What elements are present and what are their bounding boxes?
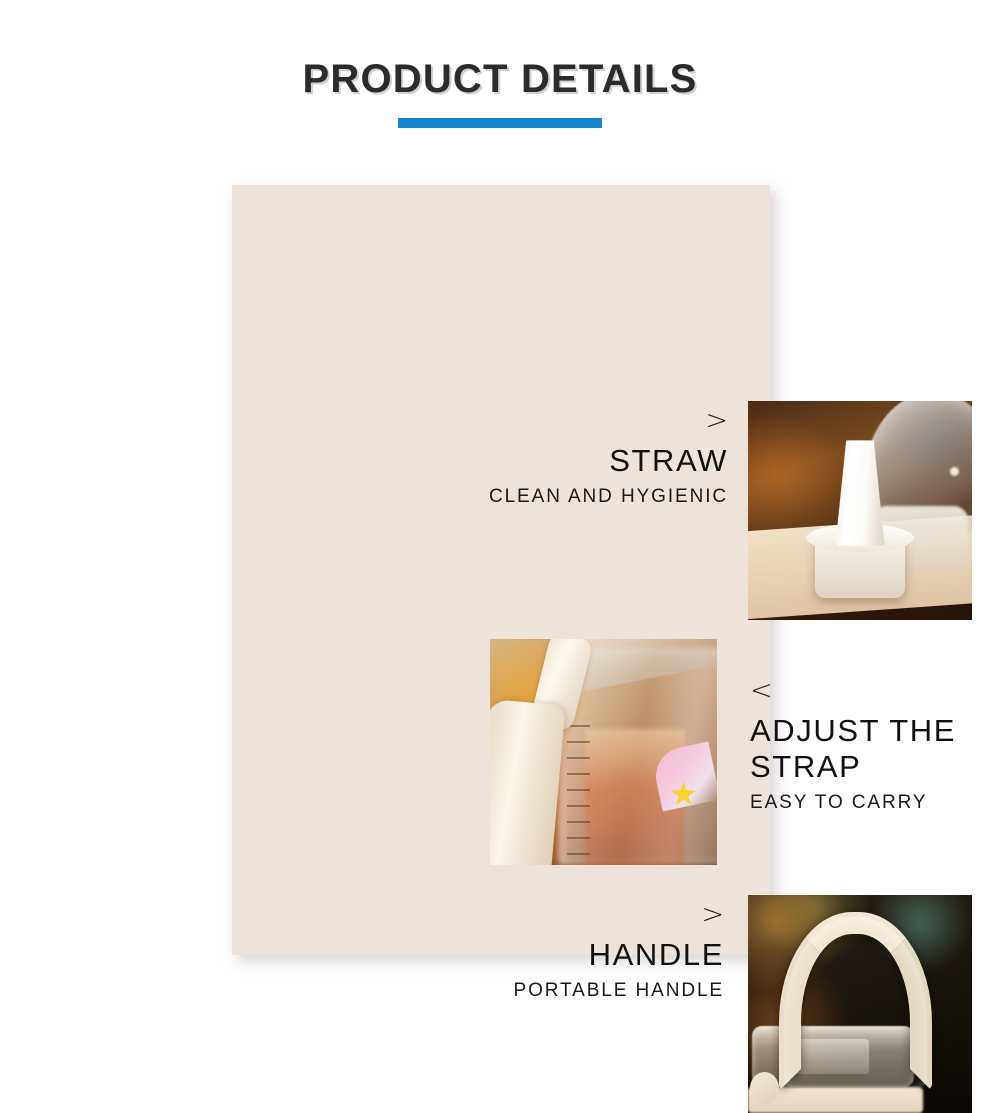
feature-subline-straw: CLEAN AND HYGIENIC	[478, 485, 728, 509]
chevron-right-icon: >	[492, 901, 724, 928]
details-card: > STRAW CLEAN AND HYGIENIC < ADJUST THE …	[232, 185, 770, 955]
photo-lid-knob	[750, 1072, 779, 1105]
feature-photo-straw	[748, 401, 972, 620]
chevron-right-icon: >	[478, 407, 728, 434]
feature-headline-straw: STRAW	[478, 443, 728, 479]
chevron-left-icon: <	[750, 677, 990, 704]
title-underline	[398, 118, 602, 128]
feature-text-strap: < ADJUST THE STRAP EASY TO CARRY	[750, 677, 990, 815]
feature-headline-strap: ADJUST THE STRAP	[750, 713, 990, 785]
feature-text-straw: > STRAW CLEAN AND HYGIENIC	[478, 407, 728, 509]
photo-bokeh-dot	[950, 467, 959, 476]
feature-text-handle: > HANDLE PORTABLE HANDLE	[492, 901, 724, 1003]
photo-measure-scale	[567, 725, 590, 856]
feature-subline-handle: PORTABLE HANDLE	[492, 979, 724, 1003]
feature-photo-strap	[490, 639, 717, 865]
feature-headline-handle: HANDLE	[492, 937, 724, 973]
page-title: PRODUCT DETAILS	[0, 57, 1000, 102]
feature-photo-handle	[748, 895, 972, 1113]
feature-subline-strap: EASY TO CARRY	[750, 791, 990, 815]
